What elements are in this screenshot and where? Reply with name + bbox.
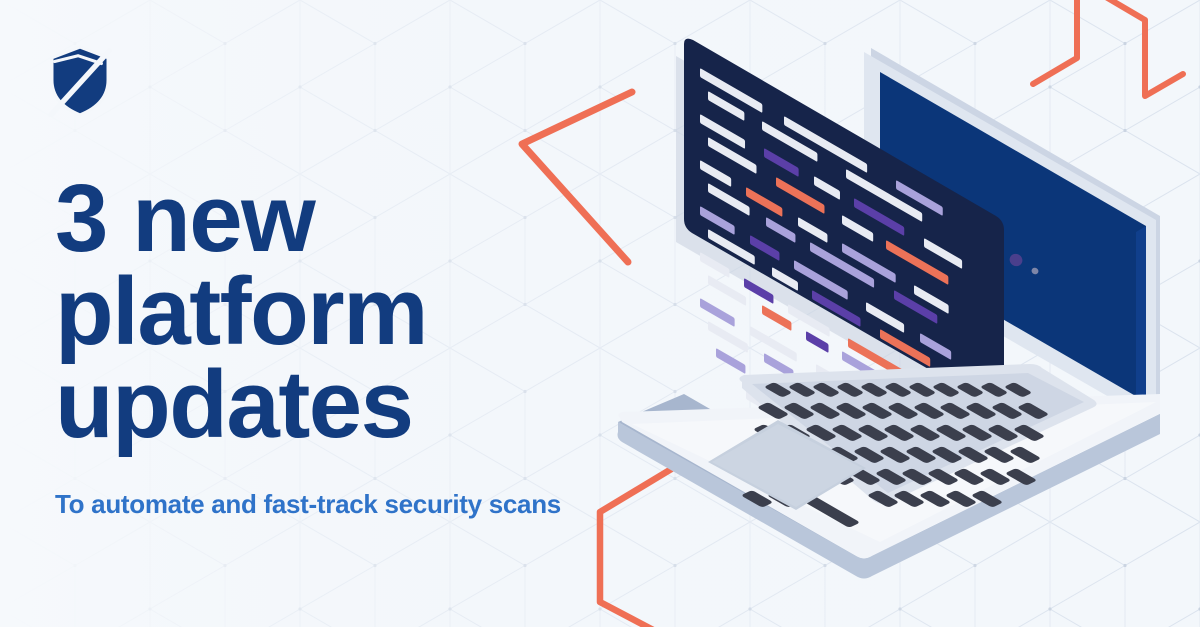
laptop-base <box>618 364 1161 579</box>
shield-check-icon[interactable] <box>48 45 112 117</box>
copy-block: 3 new platform updates To automate and f… <box>55 172 615 520</box>
isometric-laptop-illustration <box>560 0 1200 627</box>
page-title: 3 new platform updates <box>55 172 615 451</box>
page-subtitle: To automate and fast-track security scan… <box>55 451 615 520</box>
promo-banner: 3 new platform updates To automate and f… <box>0 0 1200 627</box>
